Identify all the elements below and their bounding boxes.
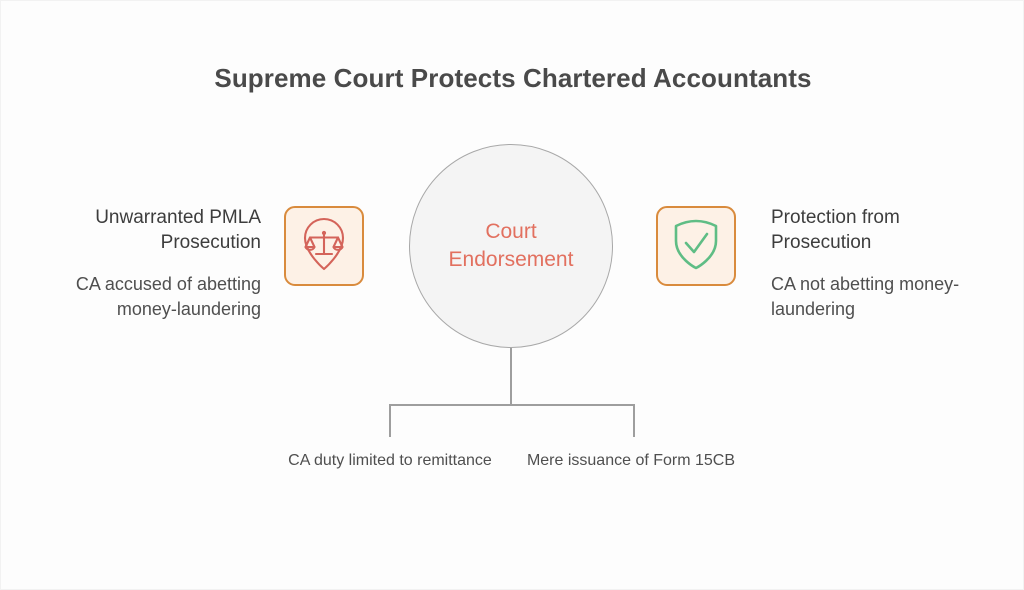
- branch-label-0: CA duty limited to remittance: [285, 449, 495, 472]
- connector-main-stem: [510, 348, 512, 405]
- left-icon-box[interactable]: [284, 206, 364, 286]
- scales-of-justice-pin-icon: [300, 216, 348, 277]
- right-text-block: Protection from Prosecution CA not abett…: [771, 205, 986, 322]
- left-text-block: Unwarranted PMLA Prosecution CA accused …: [46, 205, 261, 322]
- page-title: Supreme Court Protects Chartered Account…: [1, 63, 1024, 94]
- center-node[interactable]: Court Endorsement: [409, 144, 613, 348]
- left-body: CA accused of abetting money-laundering: [46, 272, 261, 322]
- branch-label-1: Mere issuance of Form 15CB: [526, 449, 736, 472]
- right-heading: Protection from Prosecution: [771, 205, 986, 255]
- connector-horizontal-bar: [389, 404, 635, 406]
- center-node-label: Court Endorsement: [410, 218, 612, 274]
- connector-branch-stem-left: [389, 404, 391, 437]
- left-heading: Unwarranted PMLA Prosecution: [46, 205, 261, 255]
- diagram-canvas: Supreme Court Protects Chartered Account…: [0, 0, 1024, 590]
- connector-branch-stem-right: [633, 404, 635, 437]
- right-icon-box[interactable]: [656, 206, 736, 286]
- shield-check-icon: [671, 217, 721, 276]
- right-body: CA not abetting money-laundering: [771, 272, 986, 322]
